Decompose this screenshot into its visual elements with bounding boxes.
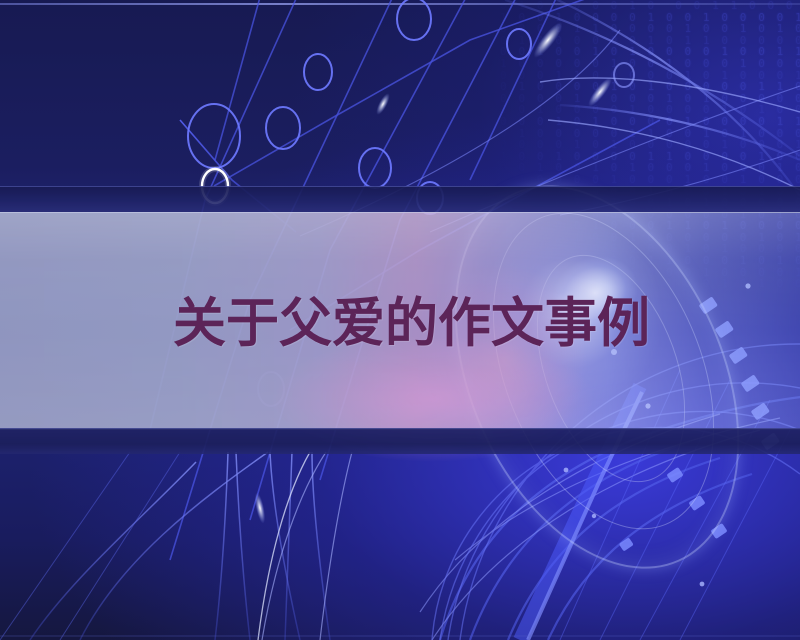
bottom-fan-lines xyxy=(30,452,330,640)
page-title: 关于父爱的作文事例 xyxy=(173,297,650,350)
banner-bottom-separator xyxy=(0,428,800,454)
slide-canvas: 0 1 0 0 0 0 0 1 0 0 0 1 1 0 0 0 11 0 0 1… xyxy=(0,0,800,640)
title-container: 关于父爱的作文事例 xyxy=(0,288,800,358)
